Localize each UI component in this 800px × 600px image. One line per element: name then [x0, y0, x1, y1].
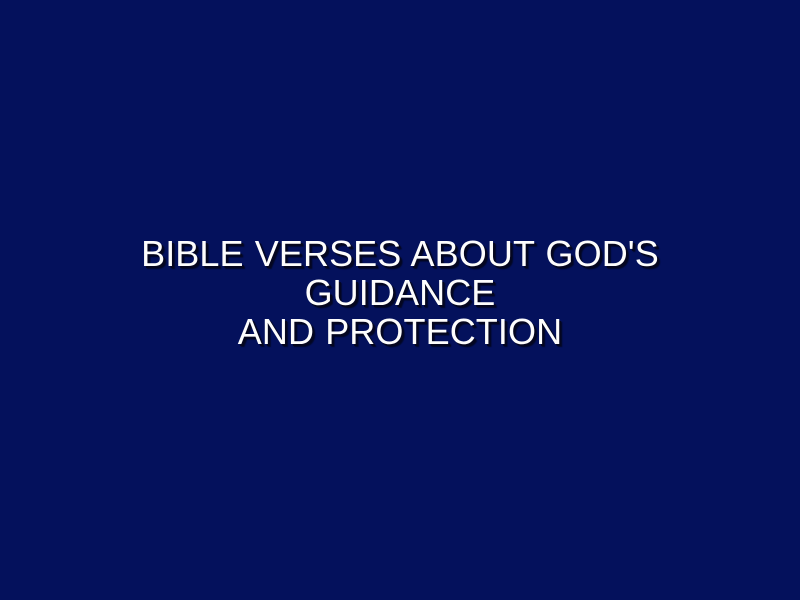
title-block: BIBLE VERSES ABOUT GOD'S GUIDANCE AND PR…: [50, 234, 750, 351]
page-title: BIBLE VERSES ABOUT GOD'S GUIDANCE AND PR…: [50, 234, 750, 351]
title-card: BIBLE VERSES ABOUT GOD'S GUIDANCE AND PR…: [0, 0, 800, 600]
